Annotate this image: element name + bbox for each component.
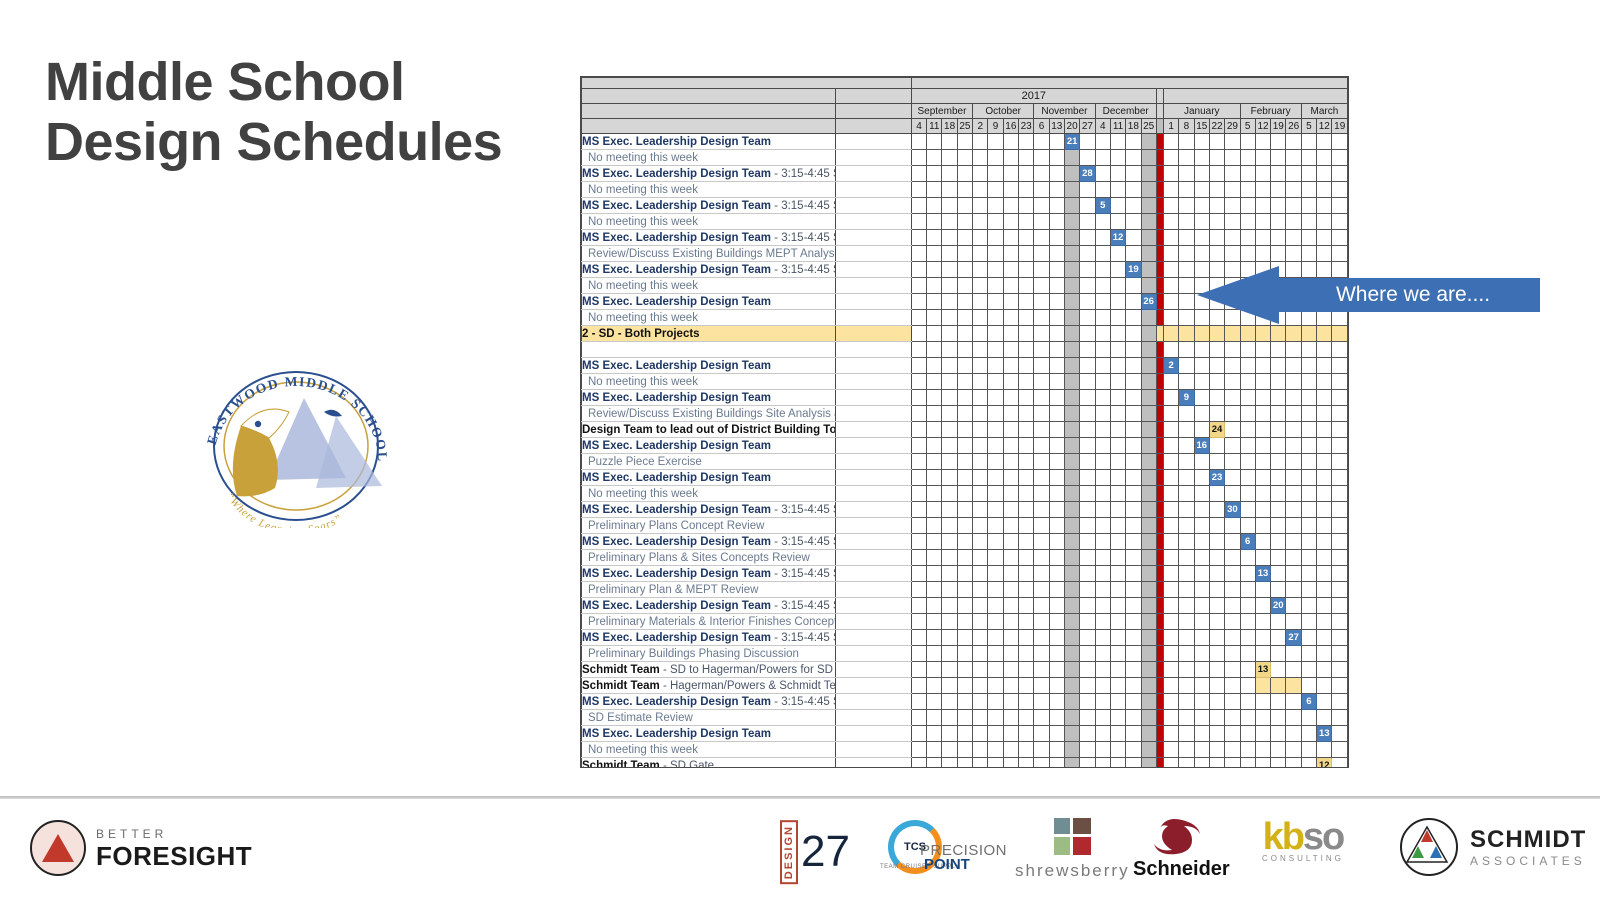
gantt-cell[interactable] (1286, 502, 1301, 518)
gantt-cell[interactable] (973, 182, 988, 198)
gantt-cell[interactable] (1179, 422, 1194, 438)
gantt-cell[interactable] (957, 310, 972, 326)
gantt-cell[interactable] (1080, 486, 1095, 502)
gantt-cell[interactable] (1209, 326, 1224, 342)
gantt-cell[interactable] (927, 246, 942, 262)
gantt-cell[interactable] (1271, 678, 1286, 694)
gantt-cell[interactable] (927, 294, 942, 310)
gantt-cell[interactable] (1049, 374, 1064, 390)
gantt-cell[interactable] (1225, 582, 1240, 598)
gantt-cell[interactable] (1163, 422, 1178, 438)
gantt-cell[interactable] (1194, 166, 1209, 182)
gantt-cell[interactable] (1126, 742, 1141, 758)
gantt-cell[interactable] (1141, 742, 1156, 758)
gantt-cell[interactable] (1179, 694, 1194, 710)
gantt-cell[interactable] (1301, 326, 1316, 342)
gantt-cell[interactable] (1332, 182, 1348, 198)
gantt-cell[interactable] (1255, 502, 1270, 518)
gantt-row[interactable]: MS Exec. Leadership Design Team2 (582, 358, 1348, 374)
gantt-cell[interactable] (1194, 390, 1209, 406)
gantt-cell[interactable] (1141, 342, 1156, 358)
gantt-cell[interactable] (988, 582, 1003, 598)
gantt-cell[interactable] (988, 502, 1003, 518)
gantt-cell[interactable] (1095, 454, 1110, 470)
gantt-cell[interactable] (1110, 246, 1125, 262)
gantt-cell[interactable] (1317, 694, 1332, 710)
gantt-cell[interactable] (957, 214, 972, 230)
gantt-cell[interactable] (1064, 182, 1079, 198)
gantt-row[interactable]: Schmidt Team - Hagerman/Powers & Schmidt… (582, 678, 1348, 694)
gantt-cell[interactable] (1049, 422, 1064, 438)
gantt-cell[interactable] (1194, 406, 1209, 422)
gantt-cell[interactable] (911, 518, 926, 534)
gantt-cell[interactable] (1317, 534, 1332, 550)
gantt-cell[interactable] (1301, 566, 1316, 582)
gantt-cell[interactable]: 5 (1095, 198, 1110, 214)
gantt-cell[interactable] (942, 550, 957, 566)
gantt-cell[interactable] (1034, 726, 1049, 742)
gantt-cell[interactable] (973, 518, 988, 534)
gantt-cell[interactable] (1003, 758, 1018, 769)
gantt-cell[interactable] (1034, 646, 1049, 662)
gantt-cell[interactable] (1301, 182, 1316, 198)
gantt-cell[interactable] (1034, 486, 1049, 502)
gantt-cell[interactable] (973, 534, 988, 550)
gantt-cell[interactable] (1255, 598, 1270, 614)
gantt-cell[interactable] (927, 278, 942, 294)
gantt-cell[interactable] (1332, 438, 1348, 454)
gantt-cell[interactable] (1110, 166, 1125, 182)
gantt-cell[interactable] (1179, 278, 1194, 294)
gantt-cell[interactable] (1034, 310, 1049, 326)
gantt-cell[interactable] (1194, 550, 1209, 566)
gantt-cell[interactable] (1141, 678, 1156, 694)
gantt-cell[interactable] (1240, 566, 1255, 582)
gantt-cell[interactable] (1049, 358, 1064, 374)
gantt-cell[interactable] (1194, 182, 1209, 198)
gantt-cell[interactable] (1225, 166, 1240, 182)
gantt-cell[interactable] (1163, 214, 1178, 230)
gantt-cell[interactable] (1286, 662, 1301, 678)
gantt-cell[interactable] (1240, 598, 1255, 614)
gantt-cell[interactable] (1049, 134, 1064, 150)
gantt-cell[interactable] (1209, 566, 1224, 582)
gantt-cell[interactable] (1080, 230, 1095, 246)
gantt-cell[interactable] (1064, 726, 1079, 742)
gantt-cell[interactable]: 30 (1225, 502, 1240, 518)
gantt-cell[interactable] (1110, 566, 1125, 582)
gantt-cell[interactable]: 6 (1240, 534, 1255, 550)
gantt-cell[interactable] (973, 646, 988, 662)
gantt-cell[interactable] (1049, 566, 1064, 582)
gantt-cell[interactable] (1064, 470, 1079, 486)
gantt-cell[interactable] (1225, 406, 1240, 422)
gantt-cell[interactable] (1064, 710, 1079, 726)
gantt-cell[interactable] (1332, 166, 1348, 182)
gantt-cell[interactable] (1225, 470, 1240, 486)
gantt-cell[interactable] (1126, 342, 1141, 358)
gantt-cell[interactable] (1163, 566, 1178, 582)
gantt-cell[interactable] (1317, 422, 1332, 438)
gantt-cell[interactable] (1019, 294, 1034, 310)
gantt-cell[interactable] (911, 198, 926, 214)
gantt-cell[interactable] (1332, 710, 1348, 726)
gantt-row[interactable]: Schmidt Team - SD to Hagerman/Powers for… (582, 662, 1348, 678)
gantt-cell[interactable] (988, 742, 1003, 758)
gantt-cell[interactable] (1271, 198, 1286, 214)
gantt-cell[interactable] (1080, 326, 1095, 342)
gantt-cell[interactable] (1064, 454, 1079, 470)
gantt-cell[interactable] (1209, 550, 1224, 566)
gantt-cell[interactable] (1003, 646, 1018, 662)
gantt-cell[interactable] (1225, 438, 1240, 454)
gantt-cell[interactable] (1301, 758, 1316, 769)
gantt-cell[interactable] (1141, 262, 1156, 278)
gantt-cell[interactable] (1225, 342, 1240, 358)
gantt-cell[interactable] (1034, 246, 1049, 262)
gantt-cell[interactable] (1332, 742, 1348, 758)
gantt-cell[interactable] (1332, 758, 1348, 769)
gantt-cell[interactable] (927, 406, 942, 422)
gantt-cell[interactable] (1095, 742, 1110, 758)
gantt-cell[interactable] (1141, 758, 1156, 769)
gantt-cell[interactable] (1163, 326, 1178, 342)
gantt-cell[interactable] (1179, 630, 1194, 646)
gantt-cell[interactable] (1255, 326, 1270, 342)
gantt-cell[interactable] (1317, 198, 1332, 214)
gantt-cell[interactable] (1240, 486, 1255, 502)
gantt-cell[interactable] (1163, 230, 1178, 246)
gantt-cell[interactable] (973, 150, 988, 166)
gantt-cell[interactable] (1317, 406, 1332, 422)
gantt-cell[interactable] (942, 214, 957, 230)
gantt-cell[interactable] (911, 374, 926, 390)
gantt-cell[interactable] (927, 758, 942, 769)
gantt-cell[interactable] (1049, 246, 1064, 262)
gantt-cell[interactable] (1209, 182, 1224, 198)
gantt-cell[interactable] (1225, 662, 1240, 678)
gantt-row[interactable]: MS Exec. Leadership Design Team - 3:15-4… (582, 534, 1348, 550)
gantt-cell[interactable] (1179, 486, 1194, 502)
gantt-cell[interactable] (942, 678, 957, 694)
gantt-cell[interactable] (973, 214, 988, 230)
gantt-cell[interactable] (1255, 694, 1270, 710)
gantt-cell[interactable] (1194, 726, 1209, 742)
gantt-cell[interactable] (1225, 326, 1240, 342)
gantt-cell[interactable] (1141, 230, 1156, 246)
gantt-cell[interactable] (1019, 582, 1034, 598)
gantt-cell[interactable] (1240, 342, 1255, 358)
gantt-cell[interactable] (1209, 214, 1224, 230)
gantt-cell[interactable] (1064, 614, 1079, 630)
gantt-cell[interactable] (911, 422, 926, 438)
gantt-cell[interactable] (1126, 150, 1141, 166)
gantt-cell[interactable] (1126, 246, 1141, 262)
gantt-cell[interactable] (1003, 278, 1018, 294)
gantt-cell[interactable] (1064, 646, 1079, 662)
gantt-cell[interactable] (1049, 502, 1064, 518)
gantt-cell[interactable] (1179, 438, 1194, 454)
gantt-cell[interactable] (1141, 278, 1156, 294)
gantt-cell[interactable] (1317, 470, 1332, 486)
gantt-cell[interactable] (1141, 518, 1156, 534)
gantt-cell[interactable] (973, 230, 988, 246)
gantt-cell[interactable] (1179, 342, 1194, 358)
gantt-cell[interactable] (1163, 246, 1178, 262)
gantt-cell[interactable] (1271, 582, 1286, 598)
gantt-cell[interactable] (1034, 278, 1049, 294)
gantt-cell[interactable] (1019, 166, 1034, 182)
gantt-cell[interactable] (1240, 390, 1255, 406)
gantt-cell[interactable] (1225, 630, 1240, 646)
gantt-cell[interactable] (942, 630, 957, 646)
gantt-cell[interactable] (1301, 438, 1316, 454)
gantt-cell[interactable]: 20 (1271, 598, 1286, 614)
gantt-cell[interactable] (1034, 630, 1049, 646)
gantt-cell[interactable] (942, 614, 957, 630)
gantt-cell[interactable] (1271, 358, 1286, 374)
gantt-cell[interactable] (1255, 710, 1270, 726)
gantt-cell[interactable] (1317, 134, 1332, 150)
gantt-cell[interactable] (1126, 646, 1141, 662)
gantt-cell[interactable] (1271, 566, 1286, 582)
gantt-cell[interactable] (911, 486, 926, 502)
gantt-cell[interactable] (1095, 470, 1110, 486)
gantt-cell[interactable] (1332, 454, 1348, 470)
gantt-cell[interactable] (1317, 646, 1332, 662)
gantt-cell[interactable] (1194, 342, 1209, 358)
gantt-cell[interactable] (988, 758, 1003, 769)
gantt-cell[interactable] (1126, 182, 1141, 198)
gantt-cell[interactable] (1179, 710, 1194, 726)
gantt-cell[interactable] (1141, 662, 1156, 678)
gantt-cell[interactable] (1194, 326, 1209, 342)
gantt-cell[interactable] (1209, 678, 1224, 694)
gantt-cell[interactable] (1255, 582, 1270, 598)
gantt-cell[interactable] (957, 518, 972, 534)
gantt-cell[interactable] (1019, 694, 1034, 710)
gantt-cell[interactable] (927, 646, 942, 662)
gantt-cell[interactable] (1317, 502, 1332, 518)
gantt-cell[interactable] (1301, 742, 1316, 758)
gantt-cell[interactable] (1301, 582, 1316, 598)
gantt-cell[interactable] (942, 646, 957, 662)
gantt-cell[interactable] (927, 550, 942, 566)
gantt-cell[interactable] (1064, 198, 1079, 214)
gantt-cell[interactable] (1019, 406, 1034, 422)
gantt-cell[interactable] (1163, 486, 1178, 502)
gantt-cell[interactable] (1209, 726, 1224, 742)
gantt-cell[interactable] (988, 214, 1003, 230)
gantt-cell[interactable] (1332, 726, 1348, 742)
gantt-cell[interactable] (1003, 486, 1018, 502)
gantt-cell[interactable] (1064, 374, 1079, 390)
gantt-cell[interactable] (1003, 182, 1018, 198)
gantt-cell[interactable] (1163, 678, 1178, 694)
gantt-cell[interactable] (911, 646, 926, 662)
gantt-cell[interactable] (1179, 310, 1194, 326)
gantt-cell[interactable] (1255, 614, 1270, 630)
gantt-cell[interactable] (1034, 518, 1049, 534)
gantt-cell[interactable] (1003, 470, 1018, 486)
gantt-row[interactable]: Design Team to lead out of District Buil… (582, 422, 1348, 438)
gantt-cell[interactable] (957, 614, 972, 630)
gantt-cell[interactable] (927, 726, 942, 742)
gantt-cell[interactable] (911, 182, 926, 198)
gantt-cell[interactable] (1317, 598, 1332, 614)
gantt-cell[interactable] (1141, 374, 1156, 390)
gantt-cell[interactable] (1049, 646, 1064, 662)
gantt-cell[interactable] (1110, 310, 1125, 326)
gantt-cell[interactable] (1317, 678, 1332, 694)
gantt-cell[interactable] (1110, 390, 1125, 406)
gantt-cell[interactable] (1080, 534, 1095, 550)
gantt-cell[interactable] (988, 230, 1003, 246)
gantt-cell[interactable] (1271, 534, 1286, 550)
gantt-cell[interactable] (1255, 358, 1270, 374)
gantt-cell[interactable] (927, 214, 942, 230)
gantt-cell[interactable] (1163, 134, 1178, 150)
gantt-cell[interactable] (1179, 566, 1194, 582)
gantt-cell[interactable] (927, 438, 942, 454)
gantt-cell[interactable] (1095, 262, 1110, 278)
gantt-cell[interactable] (942, 454, 957, 470)
gantt-row[interactable]: No meeting this week (582, 214, 1348, 230)
gantt-cell[interactable] (1194, 758, 1209, 769)
gantt-row[interactable]: No meeting this week (582, 742, 1348, 758)
gantt-cell[interactable] (1163, 374, 1178, 390)
gantt-cell[interactable] (1255, 742, 1270, 758)
gantt-cell[interactable] (1240, 758, 1255, 769)
gantt-cell[interactable] (1179, 374, 1194, 390)
gantt-cell[interactable]: 21 (1064, 134, 1079, 150)
gantt-cell[interactable] (1141, 310, 1156, 326)
gantt-cell[interactable] (1064, 166, 1079, 182)
gantt-cell[interactable] (1034, 374, 1049, 390)
gantt-row[interactable]: Puzzle Piece Exercise (582, 454, 1348, 470)
gantt-cell[interactable] (1003, 374, 1018, 390)
gantt-cell[interactable] (1163, 614, 1178, 630)
gantt-cell[interactable] (1019, 198, 1034, 214)
gantt-cell[interactable] (1240, 710, 1255, 726)
gantt-cell[interactable] (1209, 502, 1224, 518)
gantt-cell[interactable] (1194, 374, 1209, 390)
gantt-cell[interactable] (1003, 454, 1018, 470)
gantt-cell[interactable] (1301, 342, 1316, 358)
gantt-cell[interactable] (1095, 646, 1110, 662)
gantt-cell[interactable] (1126, 550, 1141, 566)
gantt-cell[interactable] (1225, 198, 1240, 214)
gantt-cell[interactable] (1317, 742, 1332, 758)
gantt-cell[interactable] (1163, 502, 1178, 518)
gantt-cell[interactable] (1080, 598, 1095, 614)
gantt-cell[interactable] (1003, 710, 1018, 726)
gantt-cell[interactable] (957, 198, 972, 214)
gantt-cell[interactable] (1080, 134, 1095, 150)
gantt-cell[interactable] (1126, 534, 1141, 550)
gantt-cell[interactable] (1209, 534, 1224, 550)
gantt-cell[interactable] (1332, 486, 1348, 502)
gantt-cell[interactable] (1163, 198, 1178, 214)
gantt-cell[interactable] (1163, 662, 1178, 678)
gantt-cell[interactable] (1126, 390, 1141, 406)
gantt-cell[interactable] (1209, 518, 1224, 534)
gantt-cell[interactable] (1179, 758, 1194, 769)
gantt-cell[interactable] (1317, 614, 1332, 630)
gantt-cell[interactable] (1080, 614, 1095, 630)
gantt-cell[interactable] (988, 422, 1003, 438)
gantt-cell[interactable] (1286, 566, 1301, 582)
gantt-cell[interactable] (1110, 534, 1125, 550)
gantt-cell[interactable] (1240, 742, 1255, 758)
gantt-cell[interactable] (1019, 214, 1034, 230)
gantt-cell[interactable] (1240, 326, 1255, 342)
gantt-cell[interactable] (1080, 262, 1095, 278)
gantt-cell[interactable] (1019, 438, 1034, 454)
gantt-cell[interactable] (1163, 518, 1178, 534)
gantt-cell[interactable] (911, 678, 926, 694)
gantt-cell[interactable] (942, 502, 957, 518)
gantt-cell[interactable] (973, 198, 988, 214)
gantt-cell[interactable] (1095, 534, 1110, 550)
gantt-cell[interactable] (1080, 150, 1095, 166)
gantt-cell[interactable] (988, 550, 1003, 566)
gantt-cell[interactable] (1332, 390, 1348, 406)
gantt-cell[interactable] (1271, 342, 1286, 358)
gantt-cell[interactable] (988, 630, 1003, 646)
gantt-row[interactable]: Review/Discuss Existing Buildings MEPT A… (582, 246, 1348, 262)
gantt-cell[interactable] (1110, 278, 1125, 294)
gantt-cell[interactable] (1095, 326, 1110, 342)
gantt-row[interactable]: No meeting this week (582, 374, 1348, 390)
gantt-cell[interactable] (1163, 150, 1178, 166)
gantt-cell[interactable] (1332, 646, 1348, 662)
gantt-cell[interactable] (1080, 198, 1095, 214)
gantt-cell[interactable] (942, 406, 957, 422)
gantt-cell[interactable] (1003, 662, 1018, 678)
gantt-cell[interactable] (1034, 534, 1049, 550)
gantt-cell[interactable] (1225, 214, 1240, 230)
gantt-cell[interactable] (1271, 694, 1286, 710)
gantt-cell[interactable] (988, 438, 1003, 454)
gantt-cell[interactable] (988, 262, 1003, 278)
gantt-cell[interactable] (1141, 406, 1156, 422)
gantt-cell[interactable] (988, 326, 1003, 342)
gantt-cell[interactable] (1126, 358, 1141, 374)
gantt-cell[interactable] (1271, 166, 1286, 182)
gantt-cell[interactable] (942, 470, 957, 486)
gantt-cell[interactable] (1255, 646, 1270, 662)
gantt-cell[interactable] (1019, 662, 1034, 678)
gantt-cell[interactable] (1049, 662, 1064, 678)
gantt-cell[interactable] (1301, 678, 1316, 694)
gantt-cell[interactable] (1080, 758, 1095, 769)
gantt-cell[interactable] (1179, 470, 1194, 486)
gantt-cell[interactable] (1209, 454, 1224, 470)
gantt-cell[interactable] (1064, 438, 1079, 454)
gantt-cell[interactable] (1194, 710, 1209, 726)
gantt-cell[interactable] (1141, 246, 1156, 262)
gantt-cell[interactable] (1126, 598, 1141, 614)
gantt-cell[interactable] (1179, 726, 1194, 742)
gantt-cell[interactable] (973, 614, 988, 630)
gantt-cell[interactable] (1163, 534, 1178, 550)
gantt-cell[interactable] (942, 182, 957, 198)
gantt-cell[interactable] (1332, 566, 1348, 582)
gantt-cell[interactable] (1286, 678, 1301, 694)
gantt-cell[interactable] (957, 710, 972, 726)
gantt-cell[interactable] (1034, 406, 1049, 422)
